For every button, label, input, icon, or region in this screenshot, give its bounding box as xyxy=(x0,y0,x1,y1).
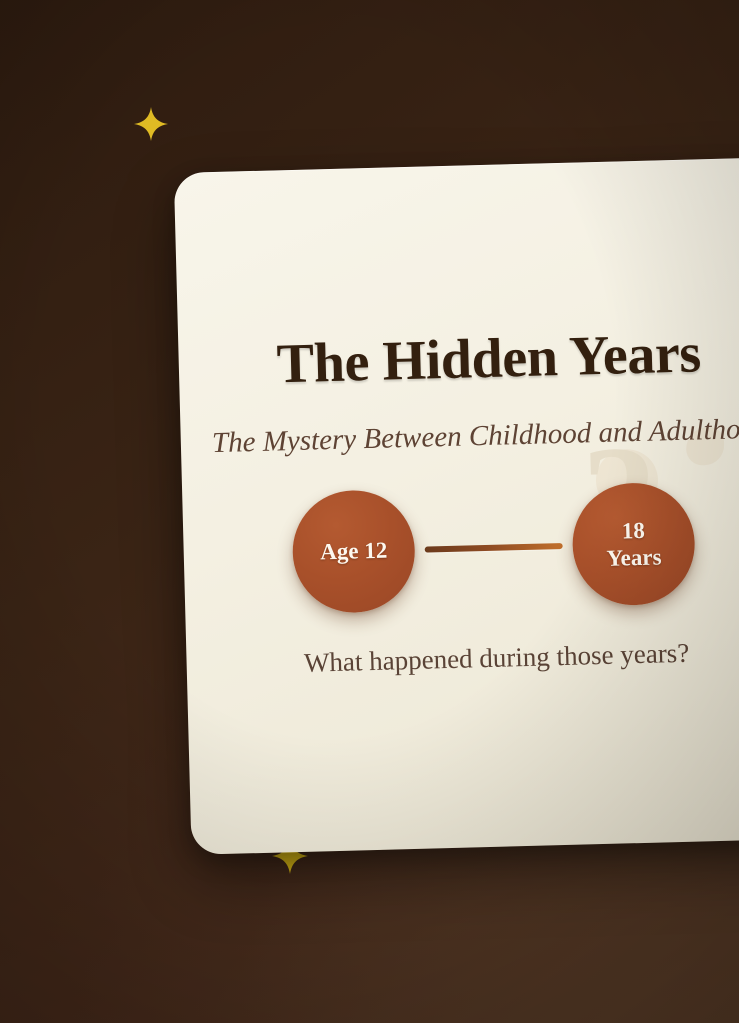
page-caption: What happened during those years? xyxy=(186,635,739,682)
timeline-node-end-line2: Years xyxy=(606,544,662,570)
age-timeline: Age 12 18 Years xyxy=(182,475,739,621)
page-title: The Hidden Years xyxy=(178,319,739,399)
timeline-connector-line xyxy=(425,543,563,553)
timeline-node-end: 18 Years xyxy=(571,482,696,607)
slide-content: The Hidden Years The Mystery Between Chi… xyxy=(174,157,739,855)
timeline-node-end-line1: 18 xyxy=(621,518,645,544)
timeline-node-start: Age 12 xyxy=(291,489,416,614)
slide-card: ? The Hidden Years The Mystery Between C… xyxy=(174,157,739,855)
slide-card-surface: ? The Hidden Years The Mystery Between C… xyxy=(174,157,739,855)
sparkle-icon-top xyxy=(134,107,168,141)
page-subtitle: The Mystery Between Childhood and Adulth… xyxy=(180,412,739,461)
